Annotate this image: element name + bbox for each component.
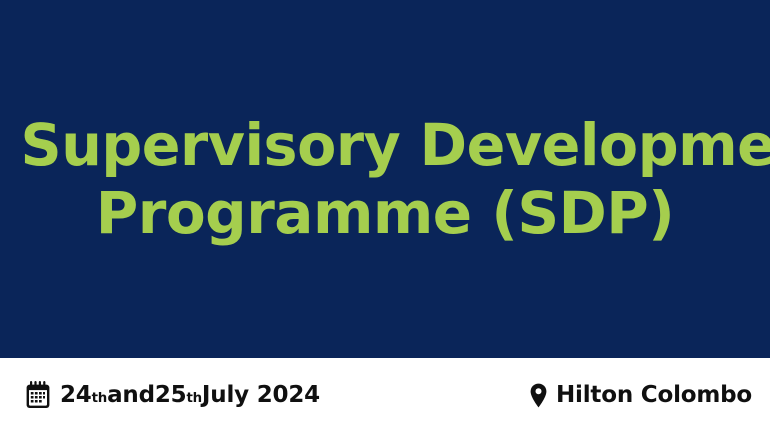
event-date-text: 24th and 25th July 2024 [60,384,320,407]
date-conjunction: and [107,384,155,407]
date-day-second: 25 [155,384,187,407]
event-venue-label: Hilton Colombo [556,384,752,407]
event-banner: Supervisory Development Programme (SDP) [0,0,770,433]
date-day-first: 24 [60,384,92,407]
page-title: Supervisory Development Programme (SDP) [15,111,755,247]
title-line-2: Programme (SDP) [15,179,755,247]
event-date: 24th and 25th July 2024 [25,381,320,410]
event-venue: Hilton Colombo [530,383,752,409]
hero-section: Supervisory Development Programme (SDP) [0,0,770,358]
location-pin-icon [530,383,547,408]
footer-bar: 24th and 25th July 2024 Hilton Colombo [0,358,770,433]
title-line-1: Supervisory Development [21,111,750,179]
date-month-year: July 2024 [202,384,320,407]
calendar-icon [25,381,51,409]
